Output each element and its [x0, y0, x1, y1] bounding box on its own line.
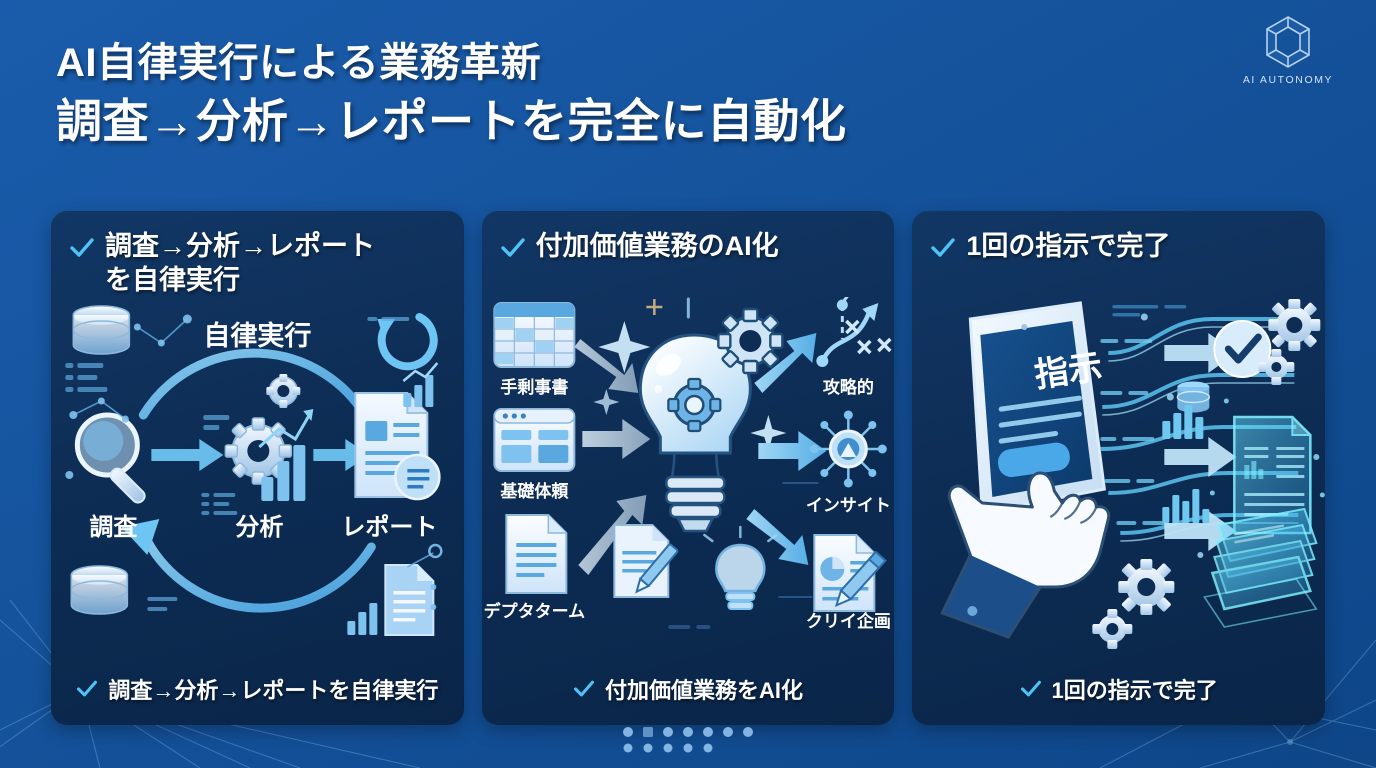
lightbulb-gears-icon [640, 309, 782, 531]
card-value-ai-illustration: 手剰事書 基礎体頼 [482, 297, 895, 653]
database-icon [1178, 382, 1210, 413]
card-cycle-illustration: 自律実行 [51, 297, 464, 653]
card-value-ai-header: 付加価値業務のAI化 [482, 211, 895, 263]
card-cycle-footer-text: 調査→分析→レポートを自律実行 [108, 673, 438, 705]
card-one-instruction-footer-text: 1回の指示で完了 [1052, 673, 1218, 705]
card-one-instruction[interactable]: 1回の指示で完了 [912, 211, 1325, 725]
tablet-label: 指示 [1033, 348, 1106, 395]
check-icon [76, 678, 98, 700]
output-label-2: インサイト [806, 496, 891, 515]
refresh-loop-icon [377, 317, 433, 366]
card-one-instruction-title: 1回の指示で完了 [966, 229, 1170, 263]
check-icon [500, 235, 526, 261]
title-line-2: 調査→分析→レポートを完全に自動化 [56, 92, 847, 150]
document-icon [355, 393, 439, 499]
node-label-report: レポート [341, 513, 437, 541]
card-value-ai-footer-text: 付加価値業務をAI化 [605, 673, 803, 705]
card-cycle-footer: 調査→分析→レポートを自律実行 [51, 653, 464, 725]
card-one-instruction-title-line1: 1回の指示で完了 [966, 229, 1170, 263]
card-cycle-title-line1: 調査→分析→レポート [105, 229, 375, 263]
small-bulb-icon [704, 527, 776, 609]
document-icon [506, 515, 566, 593]
input-label-2: 基礎体頼 [499, 481, 569, 501]
check-icon [69, 235, 95, 261]
card-value-ai-title: 付加価値業務のAI化 [536, 229, 779, 263]
feature-cards: 調査→分析→レポート を自律実行 [51, 211, 1325, 725]
dashboard-icon [494, 409, 574, 471]
check-icon [930, 235, 956, 261]
title-line-1: AI自律実行による業務革新 [56, 38, 847, 88]
page-title: AI自律実行による業務革新 調査→分析→レポートを完全に自動化 [56, 38, 847, 150]
node-label-survey: 調査 [89, 513, 137, 541]
card-cycle[interactable]: 調査→分析→レポート を自律実行 [51, 211, 464, 725]
card-value-ai-footer: 付加価値業務をAI化 [482, 653, 895, 725]
pencil-document-icon [614, 525, 678, 597]
card-cycle-header: 調査→分析→レポート を自律実行 [51, 211, 464, 297]
brand-logo: AI AUTONOMY [1222, 14, 1354, 86]
card-one-instruction-illustration: 指示 [912, 297, 1325, 653]
document-icon [385, 565, 433, 635]
spreadsheet-icon [494, 303, 574, 367]
check-icon [1020, 678, 1042, 700]
report-pencil-icon [814, 535, 885, 611]
database-icon [71, 566, 127, 614]
cycle-label: 自律実行 [203, 320, 311, 351]
output-label-1: 攻略的 [823, 377, 874, 397]
database-icon [73, 306, 129, 354]
input-label-1: 手剰事書 [500, 377, 568, 397]
card-cycle-title-line2: を自律実行 [105, 263, 375, 297]
gear-icon [1093, 609, 1133, 649]
strategy-arrow-icon [816, 297, 890, 367]
hexagon-cube-icon [1262, 14, 1314, 70]
gear-icon [1119, 559, 1175, 615]
gear-icon [1269, 299, 1321, 351]
output-label-3: クリイ企画 [806, 611, 891, 631]
card-one-instruction-header: 1回の指示で完了 [912, 211, 1325, 263]
input-label-3: デプタターム [483, 601, 585, 621]
check-icon [573, 678, 595, 700]
card-value-ai-title-line1: 付加価値業務のAI化 [536, 229, 779, 263]
bar-chart-icon [347, 603, 377, 635]
insight-hub-icon [810, 411, 887, 488]
card-value-ai[interactable]: 付加価値業務のAI化 [482, 211, 895, 725]
node-label-analysis: 分析 [235, 514, 283, 541]
magnifier-icon [77, 415, 147, 505]
dot-grid-icon [620, 724, 756, 754]
card-one-instruction-footer: 1回の指示で完了 [912, 653, 1325, 725]
gear-chart-icon [225, 374, 313, 501]
brand-name: AI AUTONOMY [1222, 74, 1354, 86]
card-cycle-title: 調査→分析→レポート を自律実行 [105, 229, 375, 297]
